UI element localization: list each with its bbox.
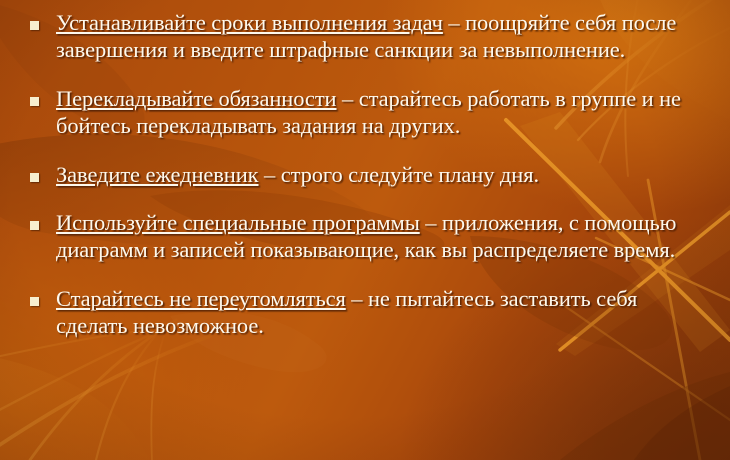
square-bullet-icon (30, 297, 39, 306)
bullet-lead-phrase: Заведите ежедневник (56, 162, 259, 187)
bullet-lead-phrase: Используйте специальные программы (56, 210, 420, 235)
square-bullet-icon (30, 221, 39, 230)
bullet-text: Старайтесь не переутомляться – не пытайт… (56, 285, 714, 339)
square-bullet-icon (30, 173, 39, 182)
bullet-lead-phrase: Устанавливайте сроки выполнения задач (56, 10, 443, 35)
bullet-text: Устанавливайте сроки выполнения задач – … (56, 9, 714, 63)
bullet-lead-phrase: Старайтесь не переутомляться (56, 286, 346, 311)
square-bullet-icon (30, 97, 39, 106)
bullet-text: Перекладывайте обязанности – старайтесь … (56, 85, 714, 139)
bullet-rest-text: – строго следуйте плану дня. (259, 162, 539, 187)
square-bullet-icon (30, 21, 39, 30)
bullet-list: Устанавливайте сроки выполнения задач – … (0, 0, 730, 460)
list-item: Старайтесь не переутомляться – не пытайт… (24, 285, 714, 339)
list-item: Заведите ежедневник – строго следуйте пл… (24, 161, 714, 188)
list-item: Используйте специальные программы – прил… (24, 209, 714, 263)
bullet-text: Заведите ежедневник – строго следуйте пл… (56, 161, 714, 188)
list-item: Перекладывайте обязанности – старайтесь … (24, 85, 714, 139)
presentation-slide: Устанавливайте сроки выполнения задач – … (0, 0, 730, 460)
bullet-lead-phrase: Перекладывайте обязанности (56, 86, 337, 111)
bullet-text: Используйте специальные программы – прил… (56, 209, 714, 263)
list-item: Устанавливайте сроки выполнения задач – … (24, 9, 714, 63)
